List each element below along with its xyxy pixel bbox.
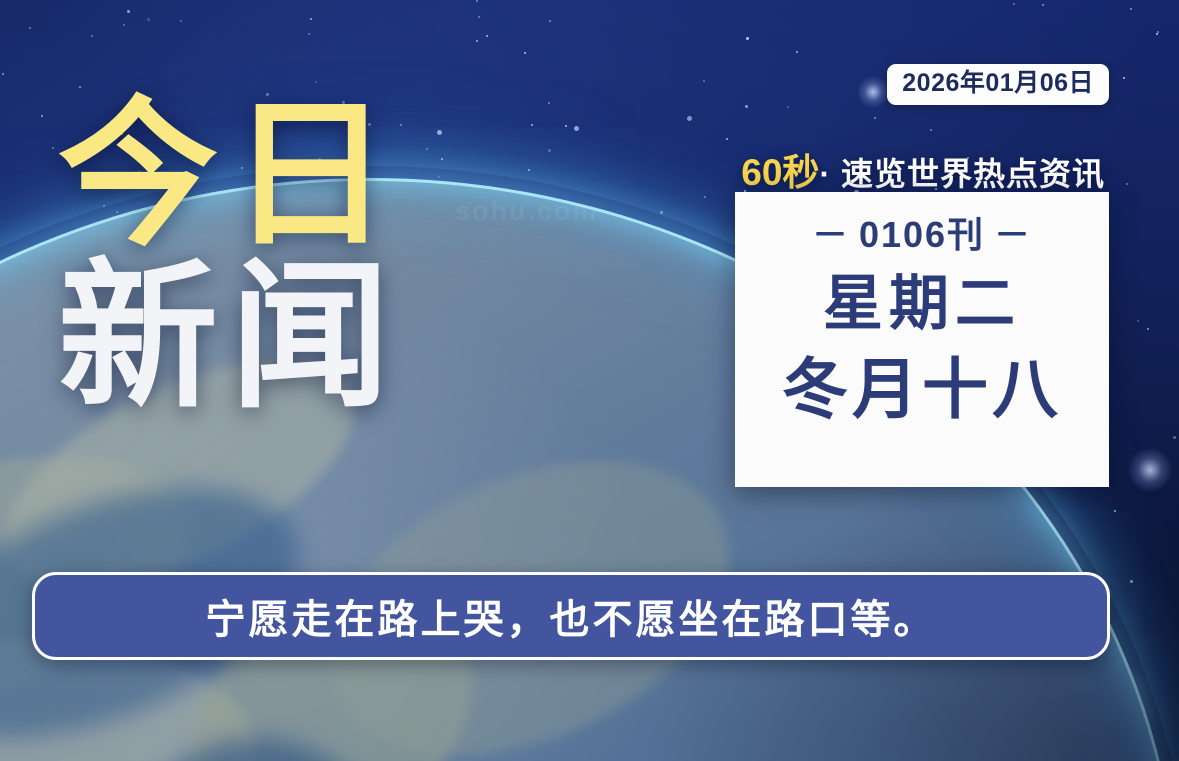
star-dot bbox=[2, 73, 4, 75]
star-dot bbox=[745, 105, 748, 108]
star-dot bbox=[1157, 31, 1159, 33]
star-dot bbox=[310, 18, 312, 20]
issue-dash-left: － bbox=[803, 214, 859, 255]
star-dot bbox=[687, 116, 692, 121]
star-glow bbox=[1128, 448, 1172, 492]
issue-row: －0106刊－ bbox=[803, 206, 1041, 258]
star-dot bbox=[478, 16, 480, 18]
star-dot bbox=[91, 35, 93, 37]
star-dot bbox=[726, 138, 728, 140]
star-dot bbox=[29, 27, 31, 29]
star-dot bbox=[874, 117, 876, 119]
date-badge: 2026年01月06日 bbox=[887, 64, 1109, 105]
star-dot bbox=[41, 115, 43, 117]
star-dot bbox=[574, 126, 579, 131]
star-dot bbox=[549, 20, 551, 22]
star-dot bbox=[703, 80, 705, 82]
star-dot bbox=[123, 24, 125, 26]
star-dot bbox=[548, 102, 550, 104]
star-dot bbox=[147, 18, 150, 21]
star-dot bbox=[308, 33, 310, 35]
tagline-description: · 速览世界热点资讯 bbox=[819, 156, 1105, 192]
star-dot bbox=[1123, 77, 1125, 79]
title-line-today: 今日 bbox=[58, 96, 498, 254]
tagline-seconds: 60秒 bbox=[741, 152, 819, 193]
quote-bar: 宁愿走在路上哭，也不愿坐在路口等。 bbox=[32, 572, 1110, 660]
star-dot bbox=[1013, 3, 1015, 5]
star-dot bbox=[746, 37, 749, 40]
star-dot bbox=[796, 51, 798, 53]
star-dot bbox=[1147, 328, 1149, 330]
star-dot bbox=[704, 196, 706, 198]
tagline: 60秒· 速览世界热点资讯 bbox=[741, 142, 1105, 196]
star-dot bbox=[1042, 4, 1044, 6]
star-dot bbox=[1126, 183, 1128, 185]
weekday-label: 星期二 bbox=[823, 274, 1021, 334]
star-dot bbox=[476, 40, 478, 42]
poster-title: 今日 新闻 bbox=[58, 96, 498, 417]
star-dot bbox=[1130, 8, 1132, 10]
star-dot bbox=[1114, 510, 1116, 512]
star-dot bbox=[1130, 580, 1133, 583]
star-dot bbox=[127, 10, 130, 13]
star-dot bbox=[531, 124, 533, 126]
star-dot bbox=[548, 149, 551, 152]
title-line-news: 新闻 bbox=[58, 258, 498, 416]
star-dot bbox=[1173, 436, 1176, 439]
issue-number: 0106刊 bbox=[859, 214, 985, 255]
star-dot bbox=[486, 35, 488, 37]
star-dot bbox=[787, 106, 789, 108]
info-card: －0106刊－ 星期二 冬月十八 bbox=[735, 192, 1109, 487]
star-dot bbox=[660, 211, 663, 214]
quote-text: 宁愿走在路上哭，也不愿坐在路口等。 bbox=[206, 587, 937, 645]
star-dot bbox=[52, 147, 54, 149]
news-poster: sohu.com 今日 新闻 2026年01月06日 60秒· 速览世界热点资讯… bbox=[0, 0, 1179, 761]
star-dot bbox=[180, 20, 182, 22]
star-dot bbox=[315, 81, 317, 83]
star-dot bbox=[1137, 320, 1139, 322]
star-dot bbox=[476, 0, 478, 2]
issue-dash-right: － bbox=[985, 214, 1041, 255]
star-dot bbox=[524, 52, 526, 54]
star-dot bbox=[565, 125, 567, 127]
star-glow bbox=[857, 76, 889, 108]
star-dot bbox=[930, 129, 932, 131]
lunar-date-label: 冬月十八 bbox=[782, 356, 1062, 422]
star-dot bbox=[528, 169, 530, 171]
